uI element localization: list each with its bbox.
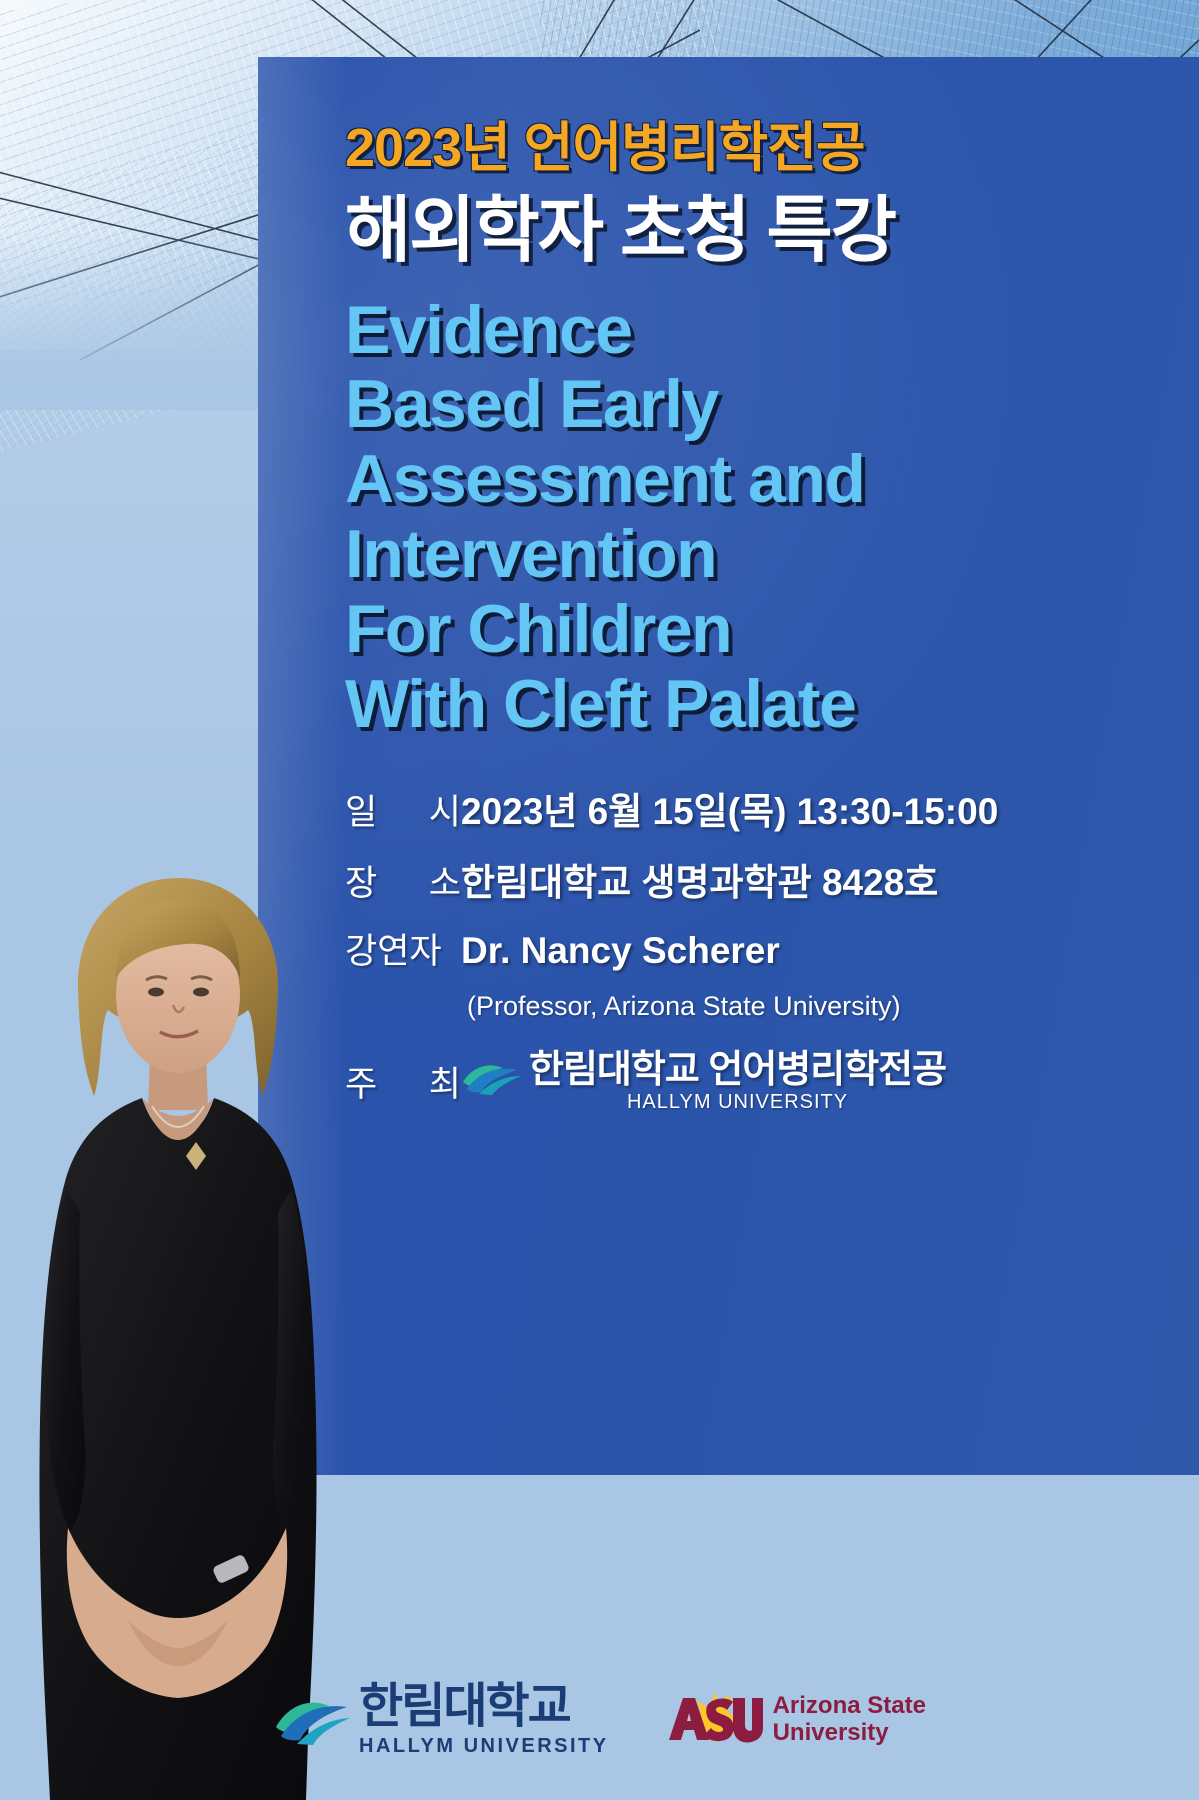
logo-strip: 한림대학교 HALLYM UNIVERSITY	[0, 1640, 1199, 1800]
title-line-5: For Children	[345, 592, 1185, 667]
hallym-wave-mark-icon	[273, 1689, 351, 1747]
hallym-logo-korean: 한림대학교	[359, 1683, 609, 1731]
host-identity: 한림대학교 언어병리학전공 HALLYM UNIVERSITY	[461, 1038, 946, 1114]
asu-logo-line-1: Arizona State	[773, 1693, 926, 1720]
hallym-university-logo: 한림대학교 HALLYM UNIVERSITY	[273, 1683, 609, 1758]
title-line-1: Evidence	[345, 293, 1185, 368]
poster-title-english: Evidence Based Early Assessment and Inte…	[345, 293, 1185, 742]
poster-canvas: 2023년 언어병리학전공 해외학자 초청 특강 Evidence Based …	[0, 0, 1199, 1800]
poster-content: 2023년 언어병리학전공 해외학자 초청 특강 Evidence Based …	[345, 120, 1185, 1131]
poster-kicker: 2023년 언어병리학전공	[345, 120, 1185, 177]
arizona-state-university-logo: Arizona State University	[667, 1692, 926, 1748]
detail-value-speaker: Dr. Nancy Scherer	[461, 930, 780, 972]
detail-label-venue-b: 소	[429, 855, 461, 906]
detail-row-host: 주 최 한림대학교 언어병리학전공 HALLYM UNIVERSITY	[345, 1038, 1185, 1114]
detail-label-venue-a: 장	[345, 855, 377, 906]
speaker-affiliation: (Professor, Arizona State University)	[467, 991, 1185, 1022]
footer-logos: 한림대학교 HALLYM UNIVERSITY	[0, 1640, 1199, 1800]
poster-headline: 해외학자 초청 특강	[345, 195, 1185, 268]
title-line-6: With Cleft Palate	[345, 667, 1185, 742]
detail-label-datetime-b: 시	[429, 784, 461, 835]
detail-label-host-a: 주	[345, 1056, 377, 1107]
hallym-logo-english: HALLYM UNIVERSITY	[359, 1735, 609, 1758]
detail-value-datetime: 2023년 6월 15일(목) 13:30-15:00	[461, 781, 998, 835]
detail-label-speaker: 강연자	[345, 923, 461, 974]
title-line-4: Intervention	[345, 517, 1185, 592]
asu-logo-text: Arizona State University	[773, 1693, 926, 1747]
event-details: 일 시 2023년 6월 15일(목) 13:30-15:00 장 소 한림대학…	[345, 781, 1185, 1114]
detail-row-datetime: 일 시 2023년 6월 15일(목) 13:30-15:00	[345, 781, 1185, 835]
detail-label-datetime: 일 시	[345, 784, 461, 835]
title-line-3: Assessment and	[345, 442, 1185, 517]
detail-label-venue: 장 소	[345, 855, 461, 906]
detail-row-venue: 장 소 한림대학교 생명과학관 8428호	[345, 852, 1185, 906]
detail-label-datetime-a: 일	[345, 784, 377, 835]
detail-label-host-b: 최	[429, 1056, 461, 1107]
asu-logo-line-2: University	[773, 1720, 926, 1747]
detail-row-speaker: 강연자 Dr. Nancy Scherer	[345, 923, 1185, 974]
detail-value-venue: 한림대학교 생명과학관 8428호	[461, 852, 938, 906]
asu-sunburst-icon	[667, 1692, 763, 1748]
hallym-wave-icon	[461, 1056, 523, 1096]
hallym-logo-text: 한림대학교 HALLYM UNIVERSITY	[359, 1683, 609, 1758]
host-name-korean: 한림대학교 언어병리학전공	[529, 1038, 946, 1093]
host-name-english: HALLYM UNIVERSITY	[529, 1091, 946, 1114]
detail-label-host: 주 최	[345, 1056, 461, 1107]
host-name-block: 한림대학교 언어병리학전공 HALLYM UNIVERSITY	[529, 1038, 946, 1114]
title-line-2: Based Early	[345, 367, 1185, 442]
